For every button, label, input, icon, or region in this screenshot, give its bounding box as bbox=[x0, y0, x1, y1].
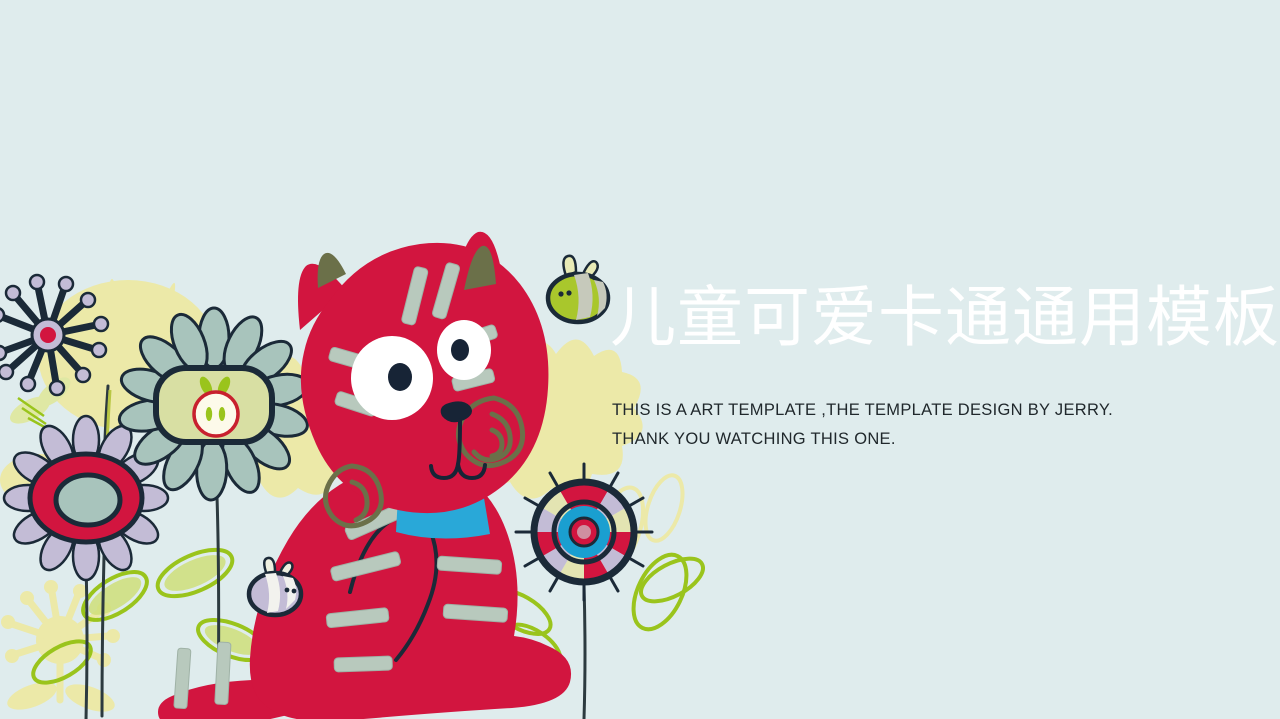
cat-eye-left bbox=[351, 336, 433, 420]
cat-eye-right bbox=[437, 320, 491, 380]
illustration-artwork bbox=[0, 0, 1280, 719]
slide-canvas: 儿童可爱卡通通用模板 THIS IS A ART TEMPLATE ,THE T… bbox=[0, 0, 1280, 719]
